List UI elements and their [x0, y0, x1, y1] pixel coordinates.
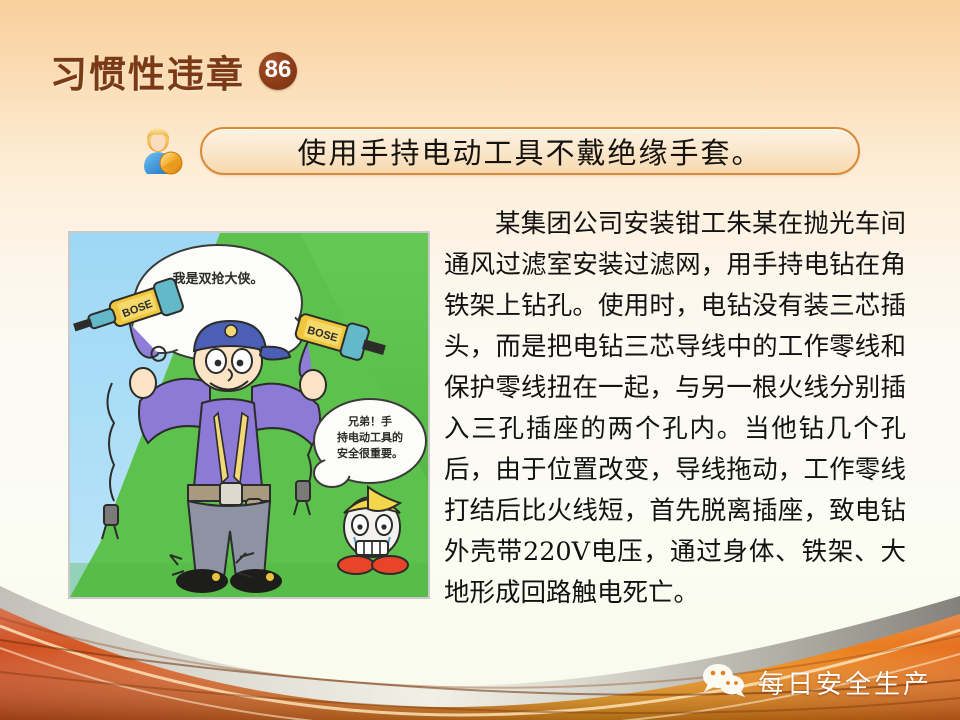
- page-title: 习惯性违章: [50, 44, 245, 98]
- svg-text:持电动工具的: 持电动工具的: [337, 430, 403, 444]
- brand-footer: 每日安全生产: [702, 663, 932, 702]
- svg-text:安全很重要。: 安全很重要。: [337, 446, 403, 460]
- subtitle-pill: 使用手持电动工具不戴绝缘手套。: [200, 127, 860, 175]
- subtitle-text: 使用手持电动工具不戴绝缘手套。: [297, 130, 762, 172]
- slide-canvas: 习惯性违章 86: [0, 0, 960, 720]
- status-badge: 86: [259, 52, 297, 90]
- brand-name: 每日安全生产: [758, 664, 932, 701]
- svg-text:我是双抢大侠。: 我是双抢大侠。: [172, 271, 263, 287]
- page-title-group: 习惯性违章 86: [50, 44, 297, 98]
- subtitle-row: 使用手持电动工具不戴绝缘手套。: [136, 126, 860, 176]
- wechat-icon: [702, 663, 746, 702]
- svg-text:兄弟！手: 兄弟！手: [347, 414, 392, 428]
- user-person-icon: [136, 126, 184, 176]
